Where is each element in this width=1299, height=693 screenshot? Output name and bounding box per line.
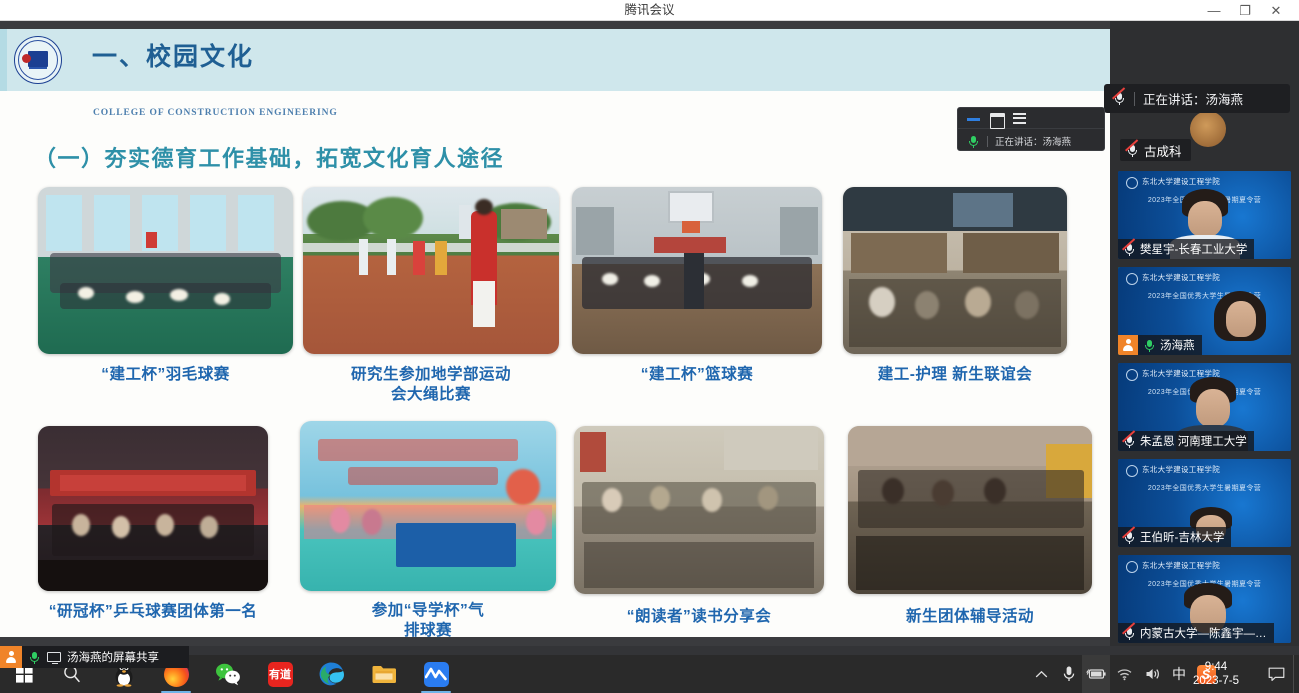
photo-cell: “建工杯”羽毛球赛 xyxy=(38,187,293,392)
participant-tile[interactable]: 东北大学建设工程学院 2023年全国优秀大学生暑期夏令营 朱孟恩 河南理工大学 xyxy=(1118,363,1291,451)
host-badge xyxy=(0,646,22,668)
taskbar-app-tencent-meeting[interactable] xyxy=(412,655,460,693)
participant-avatar xyxy=(1190,111,1226,147)
floating-meeting-controller[interactable]: 正在讲话：汤海燕 xyxy=(957,107,1105,151)
participant-name: 王伯昕-吉林大学 xyxy=(1140,529,1224,545)
photo-cell: 建工-护理 新生联谊会 xyxy=(843,187,1067,392)
screen-share-label: 汤海燕的屏幕共享 xyxy=(67,649,159,665)
taskbar-app-edge[interactable] xyxy=(308,655,356,693)
participant-name: 汤海燕 xyxy=(1160,337,1195,353)
shared-screen-area[interactable]: 一、校园文化 COLLEGE OF CONSTRUCTION ENGINEERI… xyxy=(0,21,1110,646)
screen-share-icon xyxy=(47,652,61,662)
photo-caption: “朗读者”读书分享会 xyxy=(574,607,824,627)
tile-org-label: 东北大学建设工程学院 xyxy=(1142,464,1220,475)
screen-share-status-bar: 汤海燕的屏幕共享 xyxy=(0,646,189,668)
taskbar-app-file-explorer[interactable] xyxy=(360,655,408,693)
tray-battery[interactable] xyxy=(1082,655,1110,693)
photo-table-tennis xyxy=(38,426,268,591)
tray-show-hidden-icons[interactable] xyxy=(1028,655,1054,693)
slide-subtitle-english: COLLEGE OF CONSTRUCTION ENGINEERING xyxy=(93,108,338,118)
person-icon xyxy=(1122,339,1135,352)
active-speaker-label: 正在讲话：汤海燕 xyxy=(1143,89,1243,108)
wifi-icon xyxy=(1117,667,1133,681)
photo-group-counselling xyxy=(848,426,1092,594)
microphone-on-icon[interactable] xyxy=(967,135,980,148)
tray-network[interactable] xyxy=(1112,655,1138,693)
taskbar-clock[interactable]: 9:44 2023-7-5 xyxy=(1177,655,1255,693)
slide-section-heading: （一）夯实德育工作基础，拓宽文化育人途径 xyxy=(34,141,504,173)
battery-charging-icon xyxy=(1086,668,1106,680)
crest-icon xyxy=(1126,561,1138,573)
participant-namebar: 王伯昕-吉林大学 xyxy=(1118,527,1231,547)
tray-volume[interactable] xyxy=(1140,655,1166,693)
tray-microphone[interactable] xyxy=(1056,655,1082,693)
crest-icon xyxy=(1126,177,1138,189)
participant-tile-active-speaker[interactable]: 东北大学建设工程学院 2023年全国优秀大学生暑期夏令营 汤海燕 xyxy=(1118,267,1291,355)
taskbar-app-youdao[interactable]: 有道 xyxy=(256,655,304,693)
youdao-icon: 有道 xyxy=(268,662,293,687)
university-logo-icon xyxy=(13,35,67,85)
photo-cell: 参加“导学杯”气 排球赛 xyxy=(300,421,556,626)
photo-cell: 新生团体辅导活动 xyxy=(848,426,1092,626)
clock-date: 2023-7-5 xyxy=(1193,674,1239,688)
tile-banner-label: 2023年全国优秀大学生暑期夏令营 xyxy=(1118,483,1291,493)
photo-caption: 参加“导学杯”气 排球赛 xyxy=(300,601,556,637)
slide-header-accent xyxy=(0,29,7,91)
participant-name: 樊星宇-长春工业大学 xyxy=(1140,241,1247,257)
mini-speaking-label: 正在讲话：汤海燕 xyxy=(995,134,1071,148)
window-title: 腾讯会议 xyxy=(0,0,1299,21)
participant-tile[interactable]: 东北大学建设工程学院 2023年全国优秀大学生暑期夏令营 王伯昕-吉林大学 xyxy=(1118,459,1291,547)
taskbar-app-wechat[interactable] xyxy=(204,655,252,693)
photo-caption: 新生团体辅导活动 xyxy=(848,607,1092,627)
crest-icon xyxy=(1126,369,1138,381)
microphone-muted-icon xyxy=(1126,144,1139,157)
clock-time: 9:44 xyxy=(1205,660,1227,674)
microphone-muted-icon[interactable] xyxy=(1123,531,1136,544)
photo-caption: “建工杯”篮球赛 xyxy=(572,365,822,385)
notification-icon xyxy=(1268,667,1285,682)
host-badge xyxy=(1118,335,1138,355)
windows-taskbar: 有道 xyxy=(0,655,1299,693)
presentation-slide: 一、校园文化 COLLEGE OF CONSTRUCTION ENGINEERI… xyxy=(0,29,1110,637)
microphone-muted-icon[interactable] xyxy=(1123,627,1136,640)
microphone-on-icon[interactable] xyxy=(1143,339,1156,352)
photo-volleyball xyxy=(300,421,556,591)
person-icon xyxy=(5,651,18,664)
participant-namebar: 内蒙古大学—陈鑫宇—… xyxy=(1118,623,1274,643)
photo-basketball xyxy=(572,187,822,354)
participant-namebar: 汤海燕 xyxy=(1138,335,1202,355)
photo-freshman-party xyxy=(843,187,1067,354)
photo-caption: “建工杯”羽毛球赛 xyxy=(38,365,293,385)
show-desktop-button[interactable] xyxy=(1293,655,1299,693)
photo-cell: “建工杯”篮球赛 xyxy=(572,187,822,392)
photo-rope-competition xyxy=(303,187,559,354)
crest-icon xyxy=(1126,465,1138,477)
meeting-window-body: 一、校园文化 COLLEGE OF CONSTRUCTION ENGINEERI… xyxy=(0,21,1299,655)
tile-org-label: 东北大学建设工程学院 xyxy=(1142,272,1220,283)
photo-caption: 建工-护理 新生联谊会 xyxy=(843,365,1067,385)
maximize-restore-button[interactable]: ❐ xyxy=(1230,0,1260,21)
slide-title: 一、校园文化 xyxy=(92,37,254,73)
tencent-meeting-icon xyxy=(424,662,449,687)
tile-org-label: 东北大学建设工程学院 xyxy=(1142,560,1220,571)
edge-icon xyxy=(319,661,345,687)
microphone-muted-icon xyxy=(1113,92,1126,105)
participant-namebar: 樊星宇-长春工业大学 xyxy=(1118,239,1254,259)
photo-reading-club xyxy=(574,426,824,594)
tile-org-label: 东北大学建设工程学院 xyxy=(1142,176,1220,187)
microphone-on-icon[interactable] xyxy=(28,651,41,664)
participant-name-chip: 古成科 xyxy=(1120,139,1191,161)
window-title-bar: 腾讯会议 — ❐ ✕ xyxy=(0,0,1299,21)
participant-tile[interactable]: 东北大学建设工程学院 2023年全国优秀大学生暑期夏令营 内蒙古大学—陈鑫宇—… xyxy=(1118,555,1291,643)
photo-caption: “研冠杯”乒乓球赛团体第一名 xyxy=(38,602,268,622)
windows-logo-icon xyxy=(16,666,33,683)
mini-controller-buttons xyxy=(958,108,1104,129)
mini-controller-speaking: 正在讲话：汤海燕 xyxy=(958,130,1104,151)
microphone-icon xyxy=(1062,665,1076,683)
tile-banner-label: 2023年全国优秀大学生暑期夏令营 xyxy=(1118,291,1291,301)
participant-namebar: 朱孟恩 河南理工大学 xyxy=(1118,431,1254,451)
volume-icon xyxy=(1145,667,1162,681)
minimize-icon[interactable] xyxy=(967,113,980,124)
microphone-muted-icon[interactable] xyxy=(1123,435,1136,448)
chevron-up-icon xyxy=(1035,670,1048,679)
youdao-label: 有道 xyxy=(268,662,293,687)
close-button[interactable]: ✕ xyxy=(1261,0,1291,21)
participant-name: 朱孟恩 河南理工大学 xyxy=(1140,433,1247,449)
participant-name: 内蒙古大学—陈鑫宇—… xyxy=(1140,625,1267,641)
notification-center-button[interactable] xyxy=(1259,655,1293,693)
participant-name: 古成科 xyxy=(1144,141,1182,160)
menu-icon[interactable] xyxy=(1013,113,1026,124)
folder-icon xyxy=(371,663,397,685)
participant-tile[interactable]: 东北大学建设工程学院 2023年全国优秀大学生暑期夏令营 樊星宇-长春工业大学 xyxy=(1118,171,1291,259)
wechat-icon xyxy=(215,662,241,686)
photo-cell: 研究生参加地学部运动 会大绳比赛 xyxy=(303,187,559,392)
active-speaker-banner: 正在讲话：汤海燕 xyxy=(1104,84,1290,113)
photo-cell: “研冠杯”乒乓球赛团体第一名 xyxy=(38,426,268,626)
crest-icon xyxy=(1126,273,1138,285)
restore-window-icon[interactable] xyxy=(990,113,1003,124)
photo-badminton xyxy=(38,187,293,354)
photo-caption: 研究生参加地学部运动 会大绳比赛 xyxy=(303,365,559,405)
photo-cell: “朗读者”读书分享会 xyxy=(574,426,824,626)
microphone-muted-icon[interactable] xyxy=(1123,243,1136,256)
minimize-button[interactable]: — xyxy=(1199,0,1229,21)
